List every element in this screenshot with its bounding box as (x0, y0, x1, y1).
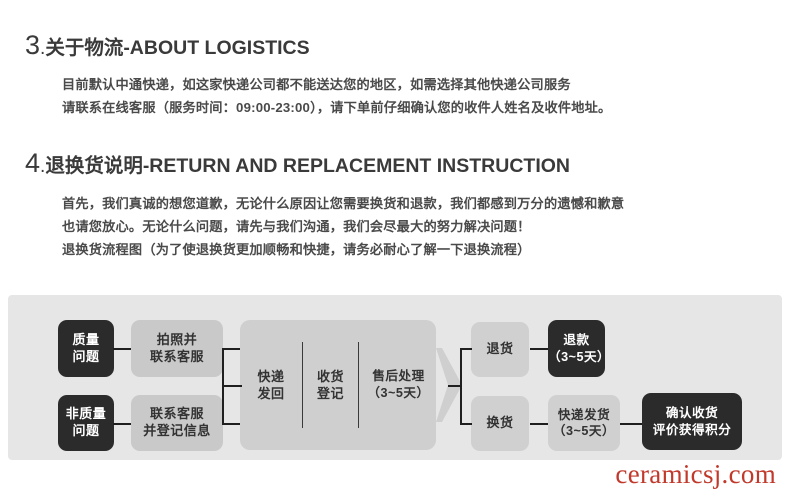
node-non-quality-issue[interactable]: 非质量 问题 (58, 395, 114, 451)
section-4-heading: 4 . 退换货说明-RETURN AND REPLACEMENT INSTRUC… (25, 148, 570, 179)
connector-bracket-to-midbox (222, 385, 242, 387)
node-return-goods[interactable]: 退货 (471, 322, 529, 377)
section-3-line-1: 目前默认中通快递，如这家快递公司都不能送达您的地区，如需选择其他快递公司服务 (62, 73, 611, 96)
node-receive-register: 收货 登记 (303, 320, 358, 450)
node-express-ship[interactable]: 快递发货 （3~5天） (548, 395, 620, 451)
node-quality-issue[interactable]: 质量 问题 (58, 320, 114, 377)
connector-split-in (448, 385, 462, 387)
section-4-body: 首先，我们真诚的想您道歉，无论什么原因让您需要换货和退款，我们都感到万分的遗憾和… (62, 192, 624, 261)
section-4-number: 4 (25, 148, 40, 179)
connector-split-to-return (460, 348, 472, 350)
section-3-number: 3 (25, 30, 40, 61)
node-contact-register[interactable]: 联系客服 并登记信息 (131, 395, 223, 451)
connector-nonquality-to-contact (113, 423, 131, 425)
connector-exchange-to-ship (530, 423, 548, 425)
connector-photo-bracket (222, 348, 240, 350)
section-3-heading: 3 . 关于物流-ABOUT LOGISTICS (25, 30, 310, 61)
site-watermark: ceramicsj.com (615, 459, 776, 490)
section-4-line-1: 首先，我们真诚的想您道歉，无论什么原因让您需要换货和退款，我们都感到万分的遗憾和… (62, 192, 624, 215)
connector-quality-to-photo (113, 348, 131, 350)
connector-split-to-exchange (460, 423, 472, 425)
midbox-process-group: 快递 发回 收货 登记 售后处理 （3~5天） (240, 320, 436, 450)
page-root: 3 . 关于物流-ABOUT LOGISTICS 目前默认中通快递，如这家快递公… (0, 0, 790, 496)
node-after-sales: 售后处理 （3~5天） (359, 320, 438, 450)
section-3-line-2: 请联系在线客服（服务时间：09:00-23:00），请下单前仔细确认您的收件人姓… (62, 96, 611, 119)
section-3-title: 关于物流-ABOUT LOGISTICS (45, 31, 309, 60)
section-4-title: 退换货说明-RETURN AND REPLACEMENT INSTRUCTION (45, 149, 570, 178)
node-express-return: 快递 发回 (240, 320, 302, 450)
node-refund[interactable]: 退款 （3~5天） (548, 320, 605, 377)
section-3-body: 目前默认中通快递，如这家快递公司都不能送达您的地区，如需选择其他快递公司服务 请… (62, 73, 611, 119)
node-exchange-goods[interactable]: 换货 (471, 396, 529, 451)
connector-contact-bracket (222, 423, 240, 425)
node-confirm-receipt[interactable]: 确认收货 评价获得积分 (642, 393, 742, 450)
connector-return-to-refund (530, 348, 548, 350)
section-4-line-2: 也请您放心。无论什么问题，请先与我们沟通，我们会尽最大的努力解决问题！ (62, 215, 624, 238)
node-photo-contact[interactable]: 拍照并 联系客服 (131, 320, 223, 377)
connector-ship-to-confirm (620, 423, 642, 425)
section-4-line-3: 退换货流程图（为了使退换货更加顺畅和快捷，请务必耐心了解一下退换流程） (62, 238, 624, 261)
